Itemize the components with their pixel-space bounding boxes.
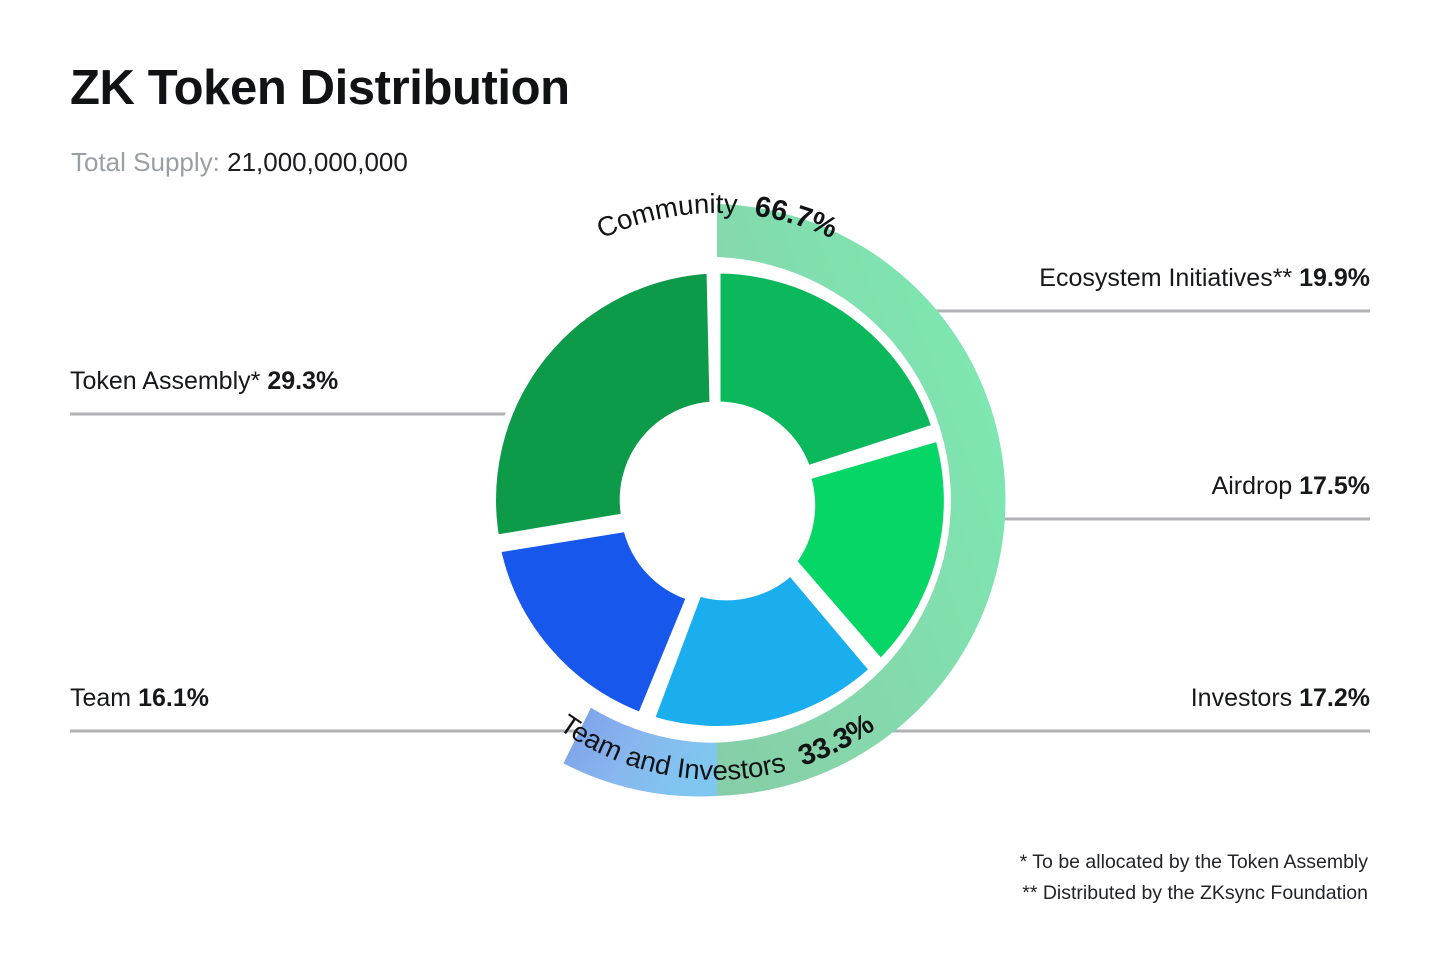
callout-ecosystem-initiatives-pct: 19.9% xyxy=(1299,264,1370,292)
callout-team: Team 16.1% xyxy=(70,686,209,711)
footnote-one: * To be allocated by the Token Assembly xyxy=(1020,847,1368,879)
callout-team-pct: 16.1% xyxy=(138,684,209,712)
callout-token-assembly-pct: 29.3% xyxy=(267,367,338,395)
inner-slice-token-assembly xyxy=(493,270,713,538)
callout-investors-pct: 17.2% xyxy=(1299,684,1370,712)
arc-label-community-text: Community xyxy=(592,188,739,244)
callout-investors: Investors 17.2% xyxy=(1191,686,1370,711)
callout-ecosystem-initiatives-label: Ecosystem Initiatives** xyxy=(1039,264,1292,292)
callout-ecosystem-initiatives: Ecosystem Initiatives** 19.9% xyxy=(1039,266,1370,291)
footnotes: * To be allocated by the Token Assembly … xyxy=(1020,847,1368,910)
callout-investors-label: Investors xyxy=(1191,684,1292,712)
callout-team-label: Team xyxy=(70,684,131,712)
callout-airdrop: Airdrop 17.5% xyxy=(1212,474,1370,499)
callout-token-assembly-label: Token Assembly* xyxy=(70,367,260,395)
callout-token-assembly: Token Assembly* 29.3% xyxy=(70,369,338,394)
callout-airdrop-pct: 17.5% xyxy=(1299,472,1370,500)
footnote-two: ** Distributed by the ZKsync Foundation xyxy=(1020,878,1368,910)
callout-airdrop-label: Airdrop xyxy=(1212,472,1293,500)
inner-ring xyxy=(493,270,948,730)
